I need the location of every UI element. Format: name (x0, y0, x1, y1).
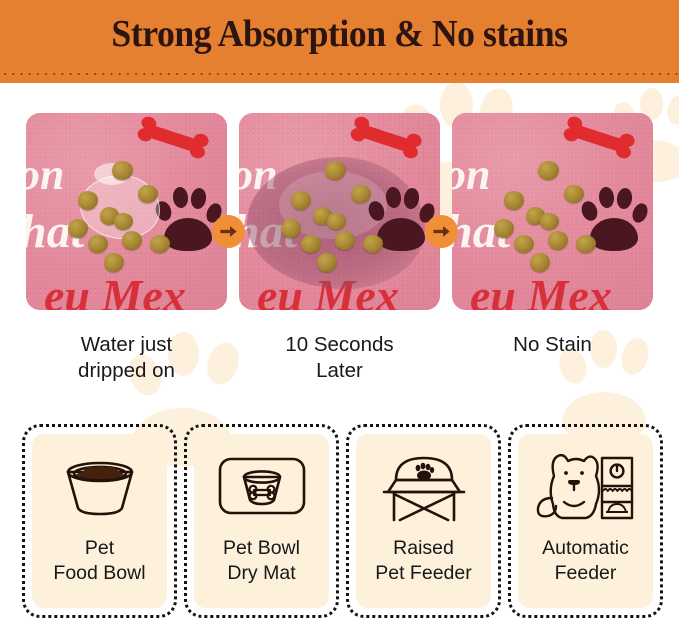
banner-dotted-divider (0, 71, 679, 77)
use-case-label: Raised Pet Feeder (375, 536, 471, 586)
use-case-label: Automatic Feeder (542, 536, 629, 586)
header-banner: Strong Absorption & No stains (0, 0, 679, 83)
demo-photo-absorbing: on hat eu Mex (239, 113, 440, 310)
mat-word-on: on (26, 153, 64, 197)
label-line: Raised (375, 536, 471, 561)
mat-word-on: on (452, 153, 490, 197)
label-line: Automatic (542, 536, 629, 561)
label-line: Pet Feeder (375, 561, 471, 586)
use-case-card-row: Pet Food Bowl (0, 424, 679, 620)
label-line: Food Bowl (53, 561, 145, 586)
use-case-card-pet-food-bowl[interactable]: Pet Food Bowl (22, 424, 177, 618)
label-line: Pet (53, 536, 145, 561)
arrow-right-icon (219, 222, 238, 241)
use-case-label: Pet Food Bowl (53, 536, 145, 586)
automatic-feeder-icon (532, 446, 640, 530)
label-line: Pet Bowl (223, 536, 300, 561)
step-arrow-icon (425, 215, 458, 248)
absorption-demo-photo-strip: on hat eu Mex on hat eu Mex (0, 113, 679, 315)
caption-line: Later (239, 358, 440, 384)
paw-emblem-icon (415, 463, 434, 481)
caption-ten-seconds-later: 10 Seconds Later (239, 332, 440, 384)
caption-line: Water just (26, 332, 227, 358)
caption-line: No Stain (452, 332, 653, 358)
pet-food-bowl-icon (46, 446, 154, 530)
use-case-label: Pet Bowl Dry Mat (223, 536, 300, 586)
mat-word-red: eu Mex (470, 273, 612, 310)
caption-line: dripped on (26, 358, 227, 384)
page-title: Strong Absorption & No stains (20, 12, 658, 56)
demo-photo-no-stain: on hat eu Mex (452, 113, 653, 310)
caption-no-stain: No Stain (452, 332, 653, 358)
pet-bowl-dry-mat-icon (208, 446, 316, 530)
demo-caption-row: Water just dripped on 10 Seconds Later N… (0, 332, 679, 404)
label-line: Feeder (542, 561, 629, 586)
mat-word-red: eu Mex (44, 273, 186, 310)
arrow-right-icon (432, 222, 451, 241)
caption-line: 10 Seconds (239, 332, 440, 358)
use-case-card-pet-bowl-dry-mat[interactable]: Pet Bowl Dry Mat (184, 424, 339, 618)
step-arrow-icon (212, 215, 245, 248)
raised-pet-feeder-icon (370, 446, 478, 530)
use-case-card-automatic-feeder[interactable]: Automatic Feeder (508, 424, 663, 618)
label-line: Dry Mat (223, 561, 300, 586)
caption-water-dripped: Water just dripped on (26, 332, 227, 384)
use-case-card-raised-pet-feeder[interactable]: Raised Pet Feeder (346, 424, 501, 618)
demo-photo-water-dripped: on hat eu Mex (26, 113, 227, 310)
